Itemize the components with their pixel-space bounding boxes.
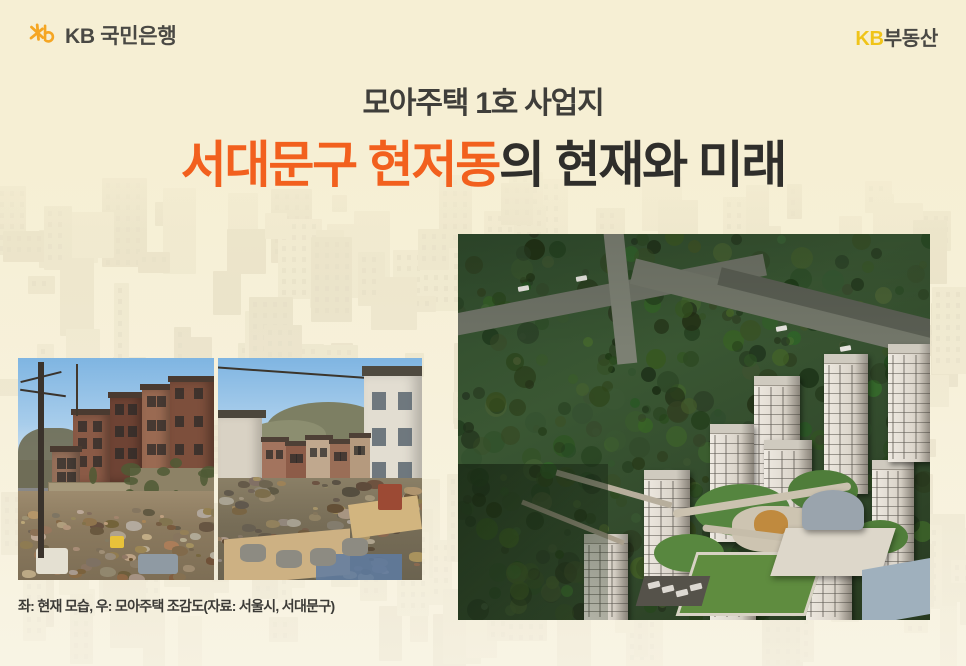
shrub [200,470,208,486]
debris [238,481,250,488]
debris [313,512,318,515]
kb-real-estate-logo[interactable]: KB부동산 [855,22,938,51]
window [194,388,203,399]
headline-rest: 의 현재와 미래 [499,137,785,193]
shrub [124,477,138,485]
window [157,396,166,407]
window [296,454,303,463]
debris [189,548,194,551]
debris [142,534,152,540]
window [115,404,124,415]
debris [239,497,244,500]
roof [362,366,422,376]
debris [190,533,201,540]
window [398,392,412,410]
kb-real-estate-name: 부동산 [884,28,938,50]
header-bar: KB 국민은행 KB부동산 [0,0,966,72]
photo-vignette [458,234,930,620]
window [320,448,327,457]
debris [105,539,109,542]
kb-star-icon [28,21,56,49]
debris [327,504,344,513]
window [372,392,386,410]
stone [342,538,368,556]
stone [240,544,266,562]
debris [73,547,80,551]
debris [20,541,33,549]
debris [407,487,422,495]
debris [63,525,71,530]
debris [126,521,142,531]
debris [87,512,92,515]
red-barrel [378,484,402,510]
debris [104,522,108,525]
window [115,448,124,459]
subtitle: 모아주택 1호 사업지 [0,78,966,122]
roof [108,392,146,398]
roof [349,433,371,438]
old-house [350,436,370,484]
debris [77,510,84,514]
debris [135,546,147,553]
window [340,452,347,461]
window [57,458,66,469]
debris [99,550,105,554]
window [78,421,87,432]
yellow-debris [110,536,124,548]
window [147,420,156,431]
debris [142,520,146,523]
window [266,450,273,459]
debris [52,513,60,518]
window [157,420,166,431]
window [276,450,283,459]
debris [105,553,116,560]
window [358,446,365,455]
debris [356,482,372,491]
debris [180,538,187,542]
shrub [170,458,182,468]
debris [183,565,195,572]
gray-debris [138,554,178,574]
debris [224,490,234,496]
debris [218,559,222,562]
window [175,416,184,427]
debris [266,520,280,528]
photo-moa-housing-rendering[interactable] [458,234,930,620]
debris [409,552,422,562]
debris [143,509,155,516]
shrub [89,467,97,484]
roof [50,446,82,452]
debris [100,567,116,577]
window [93,438,102,449]
shrub [121,463,141,476]
window [128,448,137,459]
roof [140,384,174,390]
window [67,458,76,469]
photo-caption: 좌: 현재 모습, 우: 모아주택 조감도(자료: 서울시, 서대문구) [18,596,334,616]
photo-current-slope[interactable] [18,358,214,580]
stone [276,550,302,568]
window [194,416,203,427]
debris [255,489,271,498]
window [128,426,137,437]
photo-current-cleared[interactable] [218,358,422,580]
kb-kookmin-bank-logo[interactable]: KB 국민은행 [28,20,176,50]
kb-kookmin-bank-label: KB 국민은행 [65,20,176,50]
window [147,444,156,455]
window [115,426,124,437]
debris [287,519,301,527]
window [398,428,412,446]
debris [219,497,234,505]
debris [196,554,201,557]
debris [117,574,128,580]
debris [248,489,255,493]
debris [211,508,214,518]
page-title: 서대문구 현저동의 현재와 미래 [0,125,966,197]
debris [242,524,256,532]
brick-building [142,388,172,480]
debris [199,522,214,532]
roof [218,410,266,418]
shrub [157,467,170,476]
debris [173,573,186,580]
debris [313,507,318,510]
stone [310,548,336,566]
debris [156,522,162,526]
window [194,444,203,455]
headline-highlight: 서대문구 현저동 [181,137,499,193]
window [310,448,317,457]
debris [365,495,375,501]
window [157,444,166,455]
debris [259,480,273,488]
window [372,428,386,446]
window [175,444,184,455]
debris [235,501,249,509]
window [175,388,184,399]
debris [122,555,128,559]
window [93,456,102,467]
poster-canvas: KB 국민은행 KB부동산 모아주택 1호 사업지 서대문구 현저동의 현재와 … [0,0,966,666]
roof [168,376,214,382]
debris [82,522,86,525]
debris [333,498,340,502]
window [147,396,156,407]
debris [71,517,76,520]
debris [129,574,145,580]
debris [86,558,101,567]
debris [114,516,119,519]
window [93,421,102,432]
debris [21,521,25,524]
bare-tree [76,364,78,416]
debris [332,480,341,485]
debris [129,558,133,561]
debris [277,481,286,486]
kb-real-estate-kb: KB [855,28,883,50]
window [128,404,137,415]
